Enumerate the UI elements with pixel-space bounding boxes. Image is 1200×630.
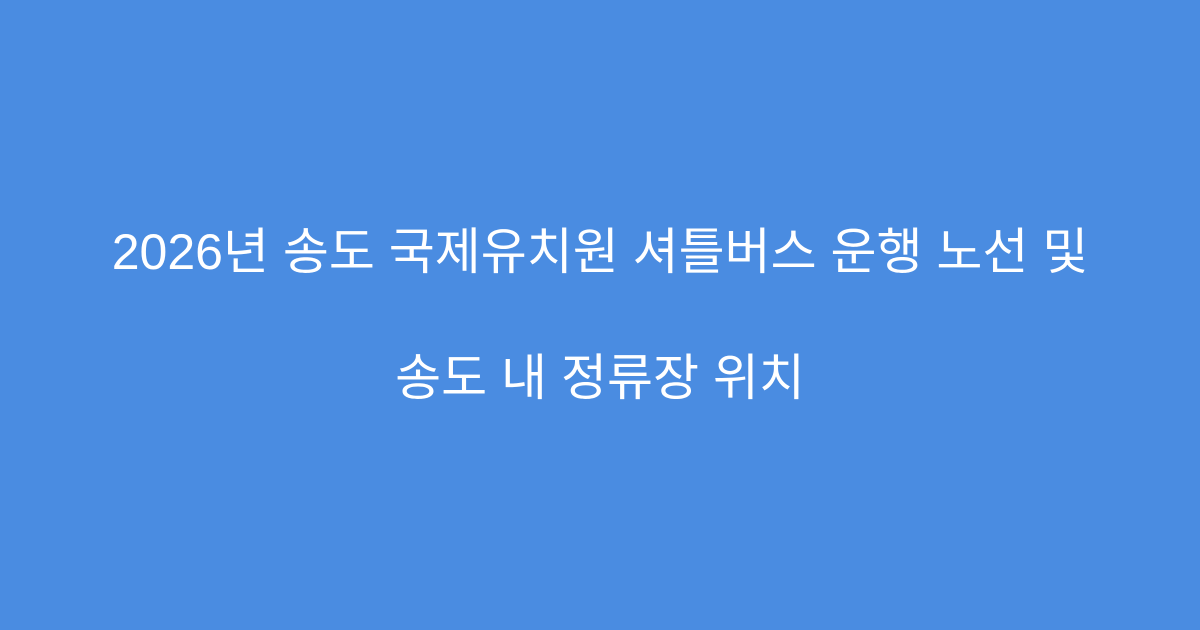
page-title-line-2: 송도 내 정류장 위치 xyxy=(50,347,1150,410)
social-card: 2026년 송도 국제유치원 셔틀버스 운행 노선 및 송도 내 정류장 위치 xyxy=(0,0,1200,630)
page-title: 2026년 송도 국제유치원 셔틀버스 운행 노선 및 송도 내 정류장 위치 xyxy=(50,158,1150,473)
page-title-line-1: 2026년 송도 국제유치원 셔틀버스 운행 노선 및 xyxy=(50,221,1150,284)
